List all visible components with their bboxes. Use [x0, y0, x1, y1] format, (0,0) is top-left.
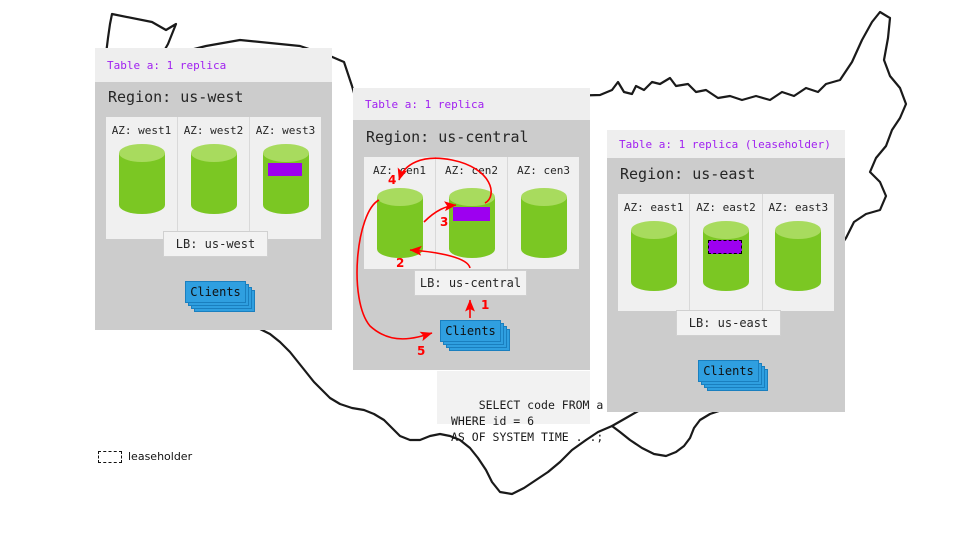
step-number-3: 3 — [440, 215, 448, 229]
clients-us-central[interactable]: Clients — [440, 320, 512, 352]
sql-query-box: SELECT code FROM a WHERE id = 6 AS OF SY… — [437, 371, 590, 424]
load-balancer-us-east[interactable]: LB: us-east — [676, 310, 781, 336]
az-strip-us-west: AZ: west1 AZ: west2 AZ: west3 — [106, 117, 321, 239]
replica-marker-cen2 — [453, 207, 490, 221]
cylinder-east3 — [773, 220, 823, 292]
clients-label[interactable]: Clients — [698, 360, 759, 382]
cylinder-cen1 — [375, 187, 425, 259]
az-label: AZ: east2 — [696, 201, 756, 214]
region-title-us-west: Region: us-west — [108, 88, 243, 106]
caption-us-east: Table a: 1 replica (leaseholder) — [607, 130, 845, 158]
load-balancer-us-west[interactable]: LB: us-west — [163, 231, 268, 257]
az-cell-cen2[interactable]: AZ: cen2 — [436, 157, 508, 269]
az-cell-west1[interactable]: AZ: west1 — [106, 117, 178, 239]
caption-text: Table a: 1 replica — [107, 59, 226, 72]
cylinder-east1 — [629, 220, 679, 292]
cylinder-west2 — [189, 143, 239, 215]
az-label: AZ: east1 — [624, 201, 684, 214]
cylinder-icon — [701, 220, 751, 292]
cylinder-icon — [261, 143, 311, 215]
cylinder-east2 — [701, 220, 751, 292]
caption-text: Table a: 1 replica — [365, 98, 484, 111]
az-cell-east3[interactable]: AZ: east3 — [763, 194, 834, 311]
az-cell-cen3[interactable]: AZ: cen3 — [508, 157, 579, 269]
step-number-2: 2 — [396, 256, 404, 270]
diagram-canvas: Table a: 1 replica Region: us-west AZ: w… — [0, 0, 960, 540]
clients-label[interactable]: Clients — [185, 281, 246, 303]
cylinder-icon — [773, 220, 823, 292]
cylinder-icon — [117, 143, 167, 215]
caption-text: Table a: 1 replica (leaseholder) — [619, 138, 831, 151]
clients-label[interactable]: Clients — [440, 320, 501, 342]
az-cell-east1[interactable]: AZ: east1 — [618, 194, 690, 311]
legend: leaseholder — [98, 450, 192, 463]
az-label: AZ: cen2 — [445, 164, 498, 177]
step-number-4: 4 — [388, 173, 396, 187]
cylinder-icon — [447, 187, 497, 259]
cylinder-icon — [629, 220, 679, 292]
caption-us-west: Table a: 1 replica — [95, 48, 332, 82]
clients-us-west[interactable]: Clients — [185, 281, 257, 313]
cylinder-west1 — [117, 143, 167, 215]
step-number-1: 1 — [481, 298, 489, 312]
az-label: AZ: cen1 — [373, 164, 426, 177]
replica-marker-east2-leaseholder — [708, 240, 742, 254]
cylinder-icon — [519, 187, 569, 259]
region-title-us-central: Region: us-central — [366, 128, 529, 146]
step-number-5: 5 — [417, 344, 425, 358]
replica-marker-west3 — [268, 163, 302, 176]
az-cell-east2[interactable]: AZ: east2 — [690, 194, 762, 311]
az-cell-cen1[interactable]: AZ: cen1 — [364, 157, 436, 269]
cylinder-icon — [189, 143, 239, 215]
az-cell-west3[interactable]: AZ: west3 — [250, 117, 321, 239]
leaseholder-swatch-icon — [98, 451, 122, 463]
load-balancer-us-central[interactable]: LB: us-central — [414, 270, 527, 296]
legend-label: leaseholder — [128, 450, 192, 463]
cylinder-cen2 — [447, 187, 497, 259]
az-label: AZ: west3 — [256, 124, 316, 137]
cylinder-icon — [375, 187, 425, 259]
clients-us-east[interactable]: Clients — [698, 360, 770, 392]
az-label: AZ: east3 — [769, 201, 829, 214]
sql-text: SELECT code FROM a WHERE id = 6 AS OF SY… — [451, 398, 603, 444]
az-label: AZ: cen3 — [517, 164, 570, 177]
az-label: AZ: west1 — [112, 124, 172, 137]
caption-us-central: Table a: 1 replica — [353, 88, 590, 120]
az-label: AZ: west2 — [184, 124, 244, 137]
region-title-us-east: Region: us-east — [620, 165, 755, 183]
az-strip-us-east: AZ: east1 AZ: east2 AZ: east3 — [618, 194, 834, 311]
cylinder-cen3 — [519, 187, 569, 259]
az-cell-west2[interactable]: AZ: west2 — [178, 117, 250, 239]
cylinder-west3 — [261, 143, 311, 215]
